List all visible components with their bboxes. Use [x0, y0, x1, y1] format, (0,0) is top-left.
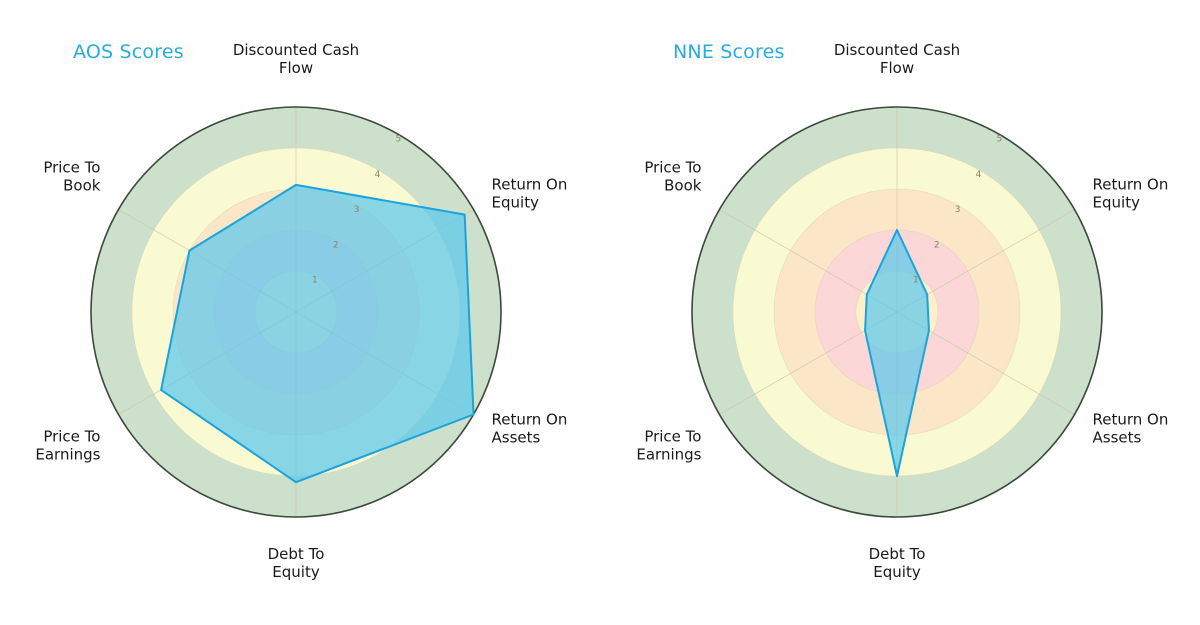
axis-label-line: Return On: [1093, 411, 1169, 429]
radar-charts-board: AOS Scores 12345Discounted CashFlowRetur…: [0, 0, 1200, 625]
axis-label-line: Discounted Cash: [233, 41, 359, 59]
axis-label-return-on-equity: Return OnEquity: [492, 176, 568, 212]
axis-label-line: Price To: [644, 428, 701, 446]
radar-chart-aos: 12345Discounted CashFlowReturn OnEquityR…: [0, 0, 600, 625]
axis-label-price-to-book: Price ToBook: [644, 159, 701, 195]
radial-tick-label-1: 1: [312, 276, 318, 286]
radial-tick-label-4: 4: [976, 170, 982, 180]
axis-label-line: Flow: [279, 59, 313, 77]
radial-tick-label-5: 5: [395, 134, 401, 144]
axis-label-line: Equity: [272, 563, 320, 581]
axis-label-line: Book: [664, 177, 702, 195]
axis-label-line: Return On: [492, 411, 568, 429]
axis-label-debt-to-equity: Debt ToEquity: [268, 545, 325, 581]
axis-label-line: Price To: [644, 159, 701, 177]
axis-label-return-on-assets: Return OnAssets: [1093, 411, 1169, 447]
chart-panel-aos: AOS Scores 12345Discounted CashFlowRetur…: [0, 0, 600, 625]
axis-label-line: Price To: [43, 428, 100, 446]
axis-label-line: Equity: [1093, 194, 1141, 212]
axis-label-return-on-equity: Return OnEquity: [1093, 176, 1169, 212]
axis-label-line: Return On: [492, 176, 568, 194]
axis-label-price-to-earnings: Price ToEarnings: [35, 428, 100, 464]
axis-label-line: Price To: [43, 159, 100, 177]
axis-label-line: Debt To: [869, 545, 926, 563]
axis-label-line: Discounted Cash: [834, 41, 960, 59]
axis-label-line: Equity: [873, 563, 921, 581]
radial-tick-label-3: 3: [354, 205, 360, 215]
axis-label-line: Book: [63, 177, 101, 195]
axis-label-price-to-book: Price ToBook: [43, 159, 100, 195]
axis-label-discounted-cash-flow: Discounted CashFlow: [233, 41, 359, 77]
axis-label-discounted-cash-flow: Discounted CashFlow: [834, 41, 960, 77]
radial-tick-label-2: 2: [934, 240, 940, 250]
axis-label-line: Return On: [1093, 176, 1169, 194]
axis-label-line: Earnings: [636, 446, 701, 464]
chart-panel-nne: NNE Scores 12345Discounted CashFlowRetur…: [600, 0, 1200, 625]
axis-label-return-on-assets: Return OnAssets: [492, 411, 568, 447]
radial-tick-label-1: 1: [913, 276, 919, 286]
axis-label-line: Assets: [492, 429, 541, 447]
axis-label-debt-to-equity: Debt ToEquity: [869, 545, 926, 581]
radial-tick-label-5: 5: [996, 134, 1002, 144]
radial-tick-label-2: 2: [333, 240, 339, 250]
radial-tick-label-3: 3: [955, 205, 961, 215]
axis-label-line: Assets: [1093, 429, 1142, 447]
axis-label-line: Debt To: [268, 545, 325, 563]
radar-chart-nne: 12345Discounted CashFlowReturn OnEquityR…: [600, 0, 1200, 625]
axis-label-line: Equity: [492, 194, 540, 212]
axis-label-price-to-earnings: Price ToEarnings: [636, 428, 701, 464]
axis-label-line: Earnings: [35, 446, 100, 464]
radial-tick-label-4: 4: [375, 170, 381, 180]
axis-label-line: Flow: [880, 59, 914, 77]
